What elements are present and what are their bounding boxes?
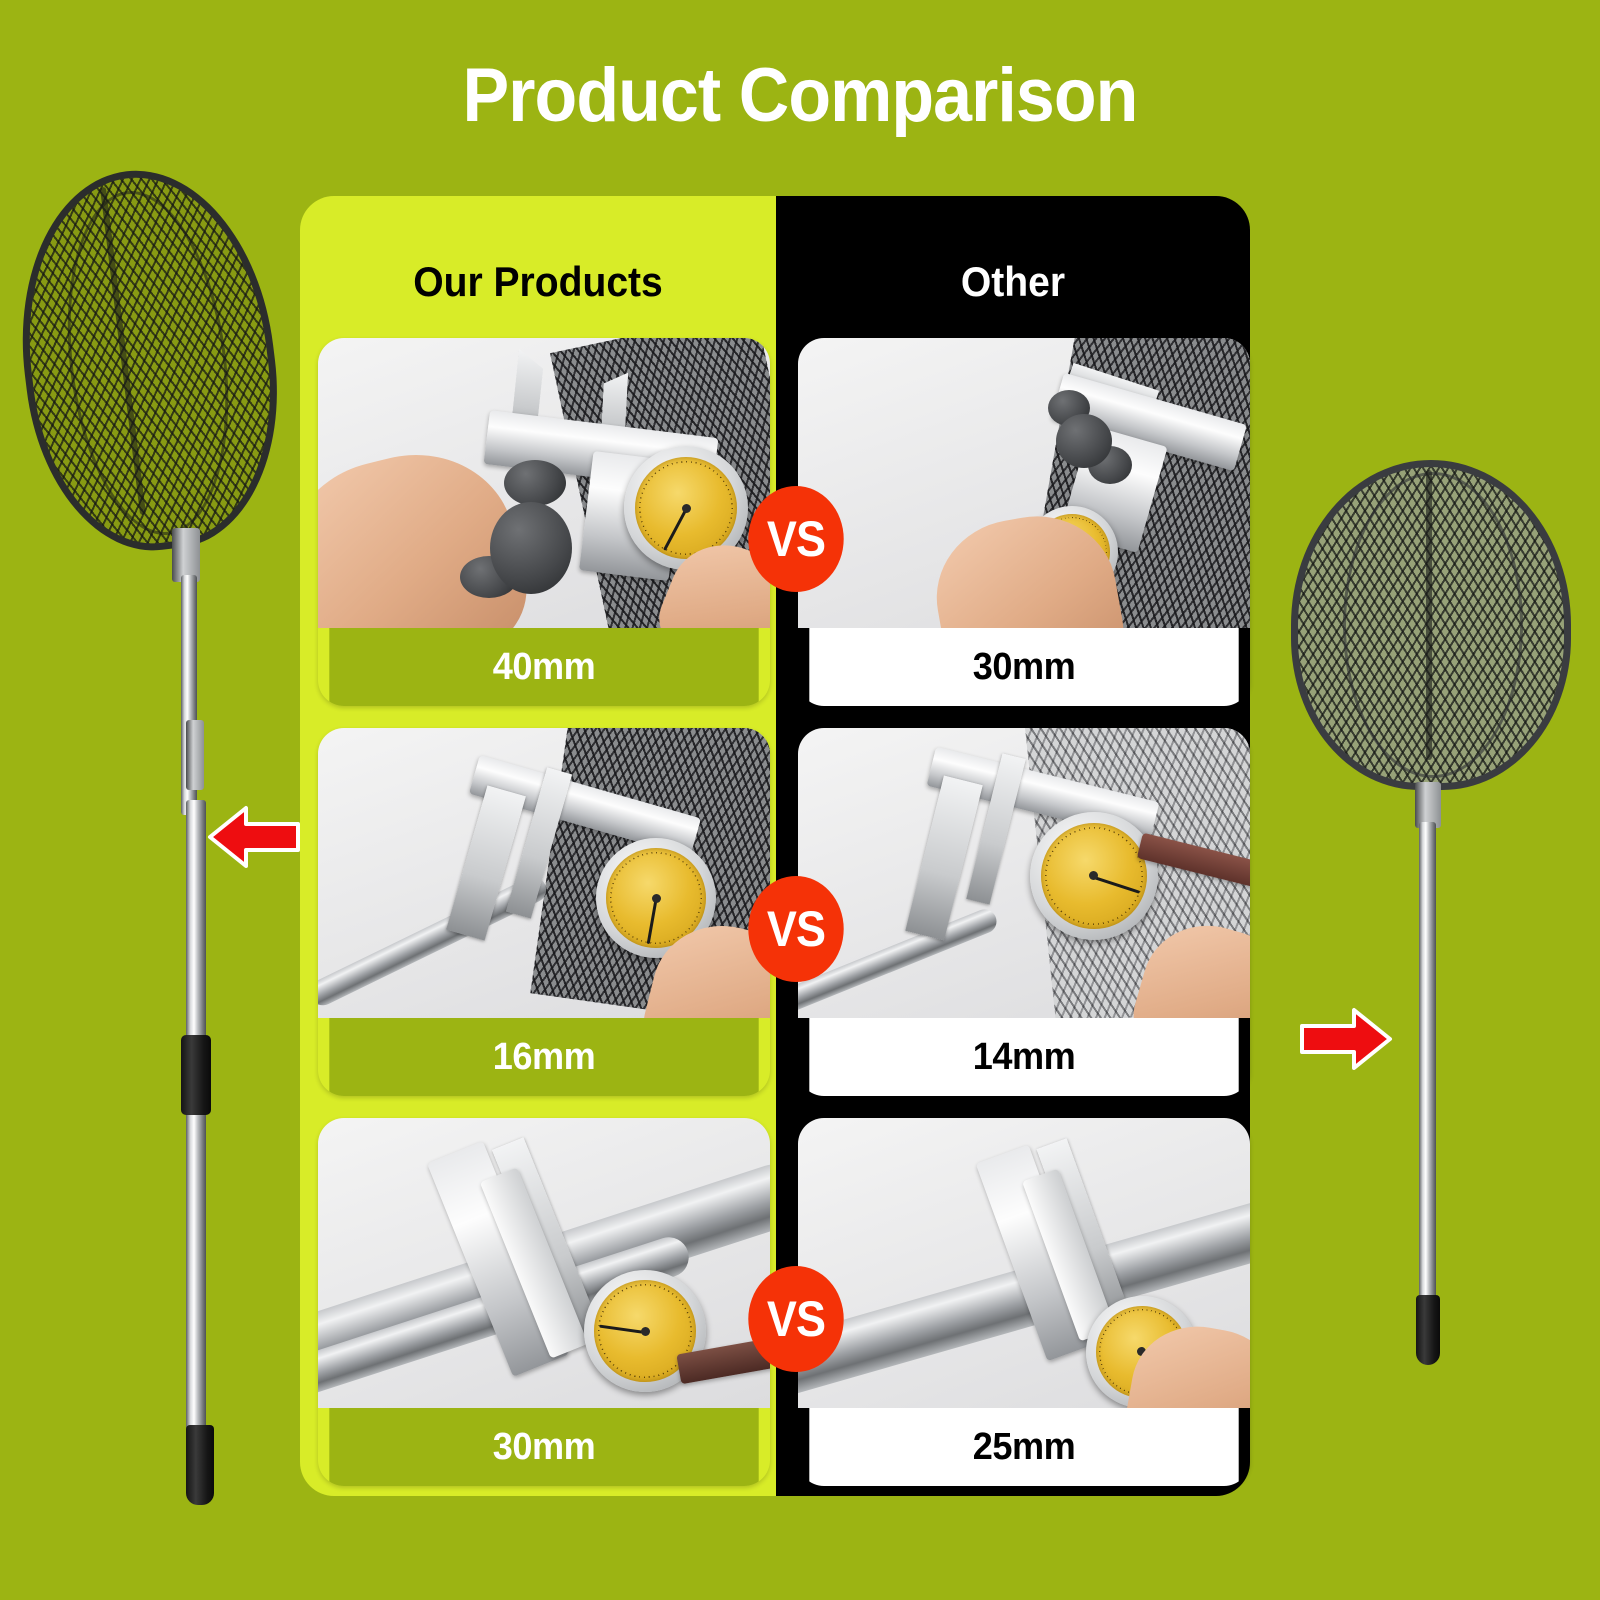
measurement-photo-ours-2 <box>318 728 770 1018</box>
other-fishing-net-product <box>1285 450 1585 1400</box>
measurement-photo-other-1 <box>798 338 1250 628</box>
page-title: Product Comparison <box>64 58 1536 134</box>
vs-badge-row-1: VS <box>748 486 843 592</box>
measurement-label-ours-1: 40mm <box>329 628 758 706</box>
column-heading-other: Other <box>793 258 1234 306</box>
comparison-board: Our Products Other <box>300 196 1250 1496</box>
caliper-jaw <box>446 785 526 940</box>
arrow-right-icon <box>1298 1002 1394 1076</box>
card-ours-row-2[interactable]: 16mm <box>318 728 770 1096</box>
tube-end-cap <box>504 460 566 506</box>
pole-end-cap <box>186 1425 214 1505</box>
dial-gauge <box>1030 812 1158 940</box>
vs-badge-row-3: VS <box>748 1266 843 1372</box>
column-heading-ours: Our Products <box>317 258 760 306</box>
tube-bore <box>490 502 572 594</box>
measurement-photo-other-3 <box>798 1118 1250 1408</box>
measurement-photo-ours-3 <box>318 1118 770 1408</box>
measurement-photo-other-2 <box>798 728 1250 1018</box>
pole-collar <box>172 528 200 582</box>
measurement-label-ours-2: 16mm <box>329 1018 758 1096</box>
measurement-label-other-2: 14mm <box>809 1018 1238 1096</box>
net-rib <box>1343 472 1523 778</box>
telescopic-pole <box>1419 822 1436 1312</box>
pole-collar <box>186 720 204 790</box>
card-ours-row-1[interactable]: 40mm <box>318 338 770 706</box>
measurement-photo-ours-1 <box>318 338 770 628</box>
card-other-row-1[interactable]: 30mm <box>798 338 1250 706</box>
pole-end-cap <box>1416 1295 1440 1365</box>
card-ours-row-3[interactable]: 30mm <box>318 1118 770 1486</box>
vs-badge-row-2: VS <box>748 876 843 982</box>
net-rib <box>1426 470 1432 760</box>
tube-bore <box>1056 414 1112 468</box>
measurement-label-ours-3: 30mm <box>329 1408 758 1486</box>
telescopic-pole <box>186 800 206 1430</box>
card-other-row-2[interactable]: 14mm <box>798 728 1250 1096</box>
card-other-row-3[interactable]: 25mm <box>798 1118 1250 1486</box>
arrow-left-icon <box>206 800 302 874</box>
our-fishing-net-product <box>10 160 290 1410</box>
measurement-label-other-3: 25mm <box>809 1408 1238 1486</box>
measurement-label-other-1: 30mm <box>809 628 1238 706</box>
pole-grip <box>181 1035 211 1115</box>
